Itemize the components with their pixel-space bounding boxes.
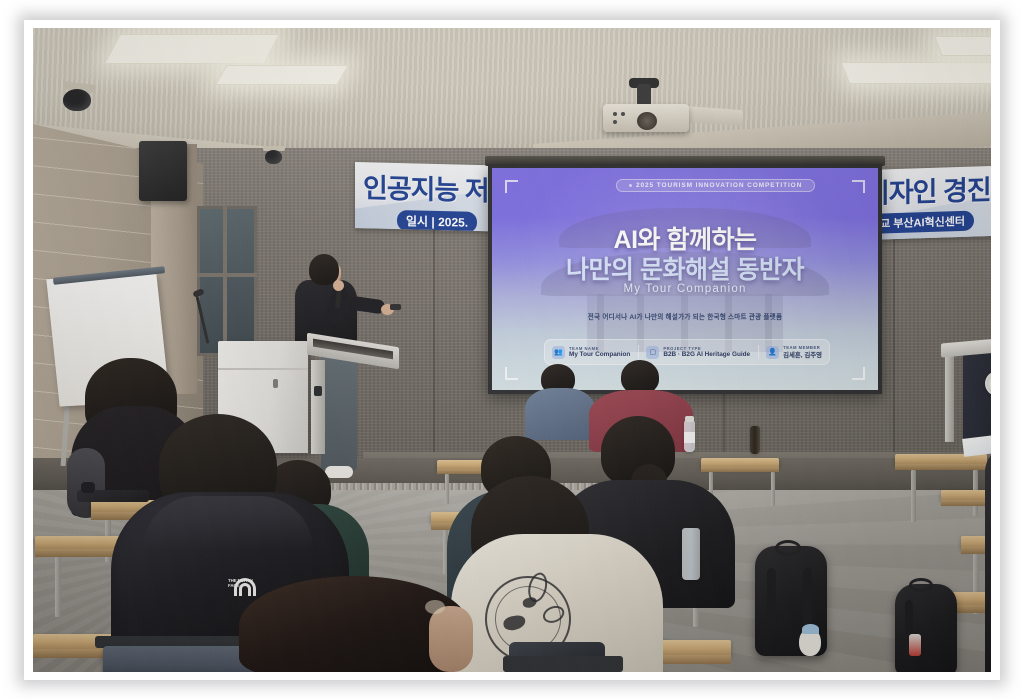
projector-mount-arm [637, 84, 651, 106]
podium-seam [218, 368, 308, 370]
presentation-clicker [390, 304, 401, 310]
slide-corner-bracket [852, 180, 865, 193]
desk-edge [941, 500, 991, 506]
slide-headline-line2: 나만의 문화해설 동반자 [492, 250, 878, 286]
dome-camera-icon [63, 89, 91, 111]
ceiling-light-panel [215, 65, 349, 85]
bottle-cap [685, 416, 694, 422]
desk-edge [661, 655, 731, 664]
lectern-stem [945, 350, 954, 442]
slide-badge-text: 2025 TOURISM INNOVATION COMPETITION [636, 182, 802, 189]
slide-card-team-member: 👤 TEAM MEMBER 김세훈, 김주영 [766, 345, 822, 359]
projector-lens [637, 112, 657, 130]
window-mullion [197, 273, 257, 277]
card-value: B2B · B2G AI Heritage Guide [663, 351, 750, 358]
audience-body-blue-shirt [525, 388, 595, 440]
presenter-shoe [325, 466, 353, 478]
desk-leg [55, 557, 61, 617]
slide-corner-bracket [852, 367, 865, 380]
dome-camera-icon [265, 150, 282, 164]
audience-dark-puffer-jacket [985, 446, 991, 672]
podium-lock [273, 379, 278, 388]
slide-card-project-type: ▢ PROJECT TYPE B2B · B2G AI Heritage Gui… [646, 346, 750, 359]
slide-info-cards: 👥 TEAM NAME My Tour Companion ▢ PROJECT … [544, 339, 830, 365]
podium-stem [311, 360, 325, 454]
water-bottle [682, 528, 700, 580]
card-divider [638, 345, 639, 359]
card-value: My Tour Companion [569, 351, 630, 358]
slide-corner-bracket [505, 180, 518, 193]
lectern-body [963, 350, 991, 442]
jacket-hood [143, 496, 313, 550]
people-icon: 👥 [552, 346, 565, 359]
north-face-logo-text: THE NORTH FACE [228, 579, 258, 588]
backpack-handle [909, 578, 933, 592]
desk-leg [911, 470, 916, 522]
desk-leg [771, 472, 775, 506]
presenter-hand-left [333, 280, 344, 291]
bottle-label [684, 432, 695, 443]
presenter-legs [321, 350, 357, 472]
podium-control-button[interactable] [314, 386, 322, 396]
card-divider [758, 345, 759, 359]
person-icon: 👤 [766, 346, 779, 359]
slide-tagline: 전국 어디서나 AI가 나만의 해설가가 되는 한국형 스마트 관광 플랫폼 [492, 311, 878, 321]
desk-leg [445, 474, 449, 504]
small-object-on-desk [81, 482, 95, 493]
slide-badge: 2025 TOURISM INNOVATION COMPETITION [616, 179, 815, 192]
foreground-person-hand [429, 606, 473, 672]
banner-left-subtitle: 일시 | 2025. [397, 210, 477, 232]
audience-head [621, 360, 659, 394]
coffee-can [750, 426, 760, 454]
desk-edge [701, 467, 779, 472]
slide-card-team-name: 👥 TEAM NAME My Tour Companion [552, 346, 630, 359]
cube-icon: ▢ [646, 346, 659, 359]
desk-edge [33, 649, 113, 658]
desk [661, 640, 731, 656]
ceiling-light-panel [934, 36, 991, 56]
plush-keychain [909, 634, 921, 656]
north-face-logo-icon: THE NORTH FACE [228, 576, 258, 596]
chair-frame [503, 656, 623, 672]
badge-dot-icon [629, 184, 632, 187]
slide-subtitle-english: My Tour Companion [492, 283, 878, 295]
foreground-person-ear [425, 600, 445, 614]
plush-hat [802, 624, 819, 634]
ceiling-light-panel [104, 34, 280, 64]
wall-speaker [139, 141, 187, 201]
backpack-strap [803, 568, 812, 626]
backpack-strap [767, 568, 776, 630]
backpack-handle [775, 540, 801, 556]
card-value: 김세훈, 김주영 [783, 350, 822, 359]
photo-frame: 인공지능 저변 일시 | 2025. 디자인 경진대 학교 부산AI혁신센터 [0, 0, 1024, 699]
slide-corner-bracket [505, 367, 518, 380]
ceiling-light-panel [841, 62, 991, 84]
lecture-hall-photograph: 인공지능 저변 일시 | 2025. 디자인 경진대 학교 부산AI혁신센터 [33, 28, 991, 672]
window-mullion [223, 206, 227, 356]
